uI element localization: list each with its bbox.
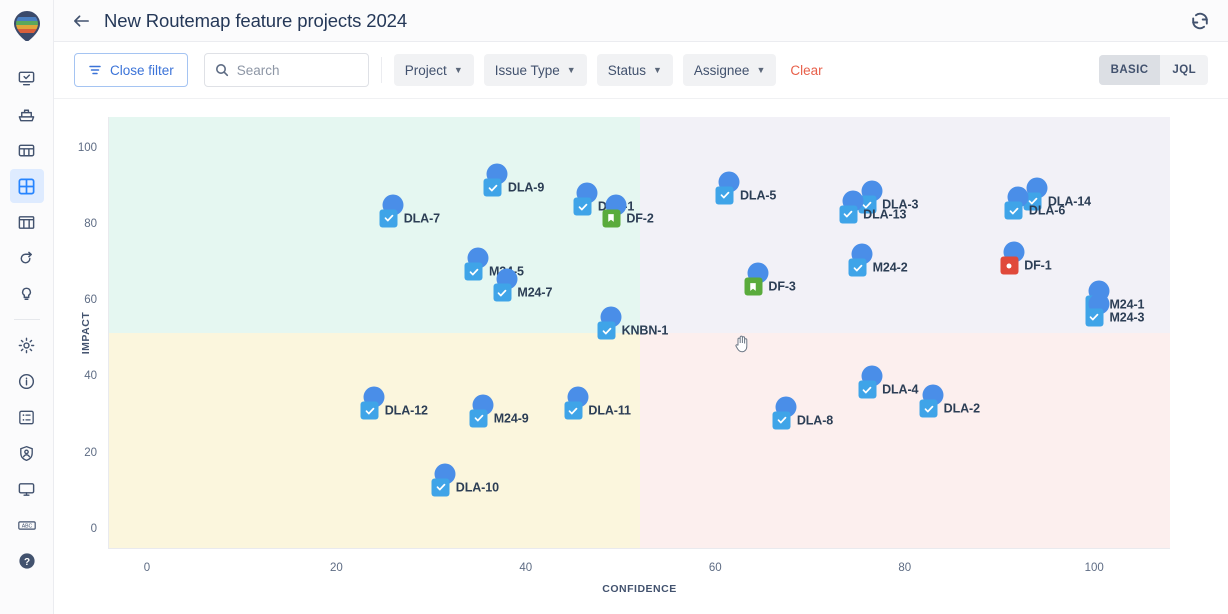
point-label: DLA-12 [385,404,428,418]
point-label: DLA-7 [404,211,440,225]
task-type-icon [920,400,938,418]
scatter-point[interactable]: DLA-11 [567,387,588,408]
point-label: DF-1 [1024,259,1051,273]
close-filter-button[interactable]: Close filter [74,53,188,87]
point-label-group[interactable]: DLA-13 [839,205,906,223]
point-label: DLA-4 [882,383,918,397]
sidebar-item-sprint-loop[interactable] [10,241,44,275]
task-type-icon [858,381,876,399]
task-type-icon [380,209,398,227]
search-box[interactable] [204,53,369,87]
filter-status-dropdown[interactable]: Status ▼ [597,54,673,86]
sync-refresh-icon[interactable] [1186,7,1214,35]
point-label-group[interactable]: M24-2 [849,259,908,277]
task-type-icon [470,409,488,427]
point-label-group[interactable]: DF-1 [1000,257,1051,275]
sidebar-item-info-circle[interactable] [10,364,44,398]
task-type-icon [564,402,582,420]
scatter-point[interactable]: DLA-2 [923,385,944,406]
y-tick-label: 0 [91,523,97,535]
y-tick-label: 100 [78,142,97,154]
filter-issue-type-dropdown[interactable]: Issue Type ▼ [484,54,587,86]
point-label-group[interactable]: DLA-8 [773,411,833,429]
point-label-group[interactable]: DLA-6 [1005,202,1065,220]
task-type-icon [361,402,379,420]
svg-text:ABC: ABC [21,523,32,529]
filter-assignee-dropdown[interactable]: Assignee ▼ [683,54,776,86]
grab-hand-cursor [734,334,751,358]
task-type-icon [598,322,616,340]
point-label: DLA-8 [797,413,833,427]
x-tick-label: 80 [898,562,911,574]
task-type-icon [716,186,734,204]
y-tick-label: 20 [84,447,97,459]
toolbar-divider [381,57,382,83]
x-tick-label: 60 [709,562,722,574]
sidebar-item-abc[interactable]: ABC [10,508,44,542]
scatter-point[interactable]: DLA-13 [842,190,863,211]
sidebar-item-lightbulb[interactable] [10,277,44,311]
bug-type-icon [1000,257,1018,275]
task-type-icon [1005,202,1023,220]
mode-jql-tab[interactable]: JQL [1160,55,1208,85]
scatter-point[interactable]: DLA-6 [1008,187,1029,208]
point-label-group[interactable]: M24-9 [470,409,529,427]
chevron-down-icon: ▼ [756,66,765,75]
chevron-down-icon: ▼ [454,66,463,75]
scatter-point[interactable]: DLA-10 [435,463,456,484]
scatter-point[interactable]: DLA-9 [487,164,508,185]
scatter-point[interactable]: DF-1 [1003,242,1024,263]
sidebar-item-display[interactable] [10,472,44,506]
point-label: M24-7 [517,286,552,300]
scatter-point[interactable]: DLA-3 [861,181,882,202]
sidebar-icon-list: ABC ? [10,60,44,579]
scatter-point[interactable]: DLA-12 [364,387,385,408]
task-type-icon [484,179,502,197]
task-type-icon [849,259,867,277]
point-label: DLA-10 [456,480,499,494]
chevron-down-icon: ▼ [567,66,576,75]
sidebar-divider [14,319,40,320]
point-label: DLA-5 [740,188,776,202]
scatter-point[interactable]: DF-2 [605,194,626,215]
sidebar-item-columns[interactable] [10,205,44,239]
point-label-group[interactable]: DLA-12 [361,402,428,420]
scatter-point[interactable]: M24-7 [496,269,517,290]
point-label: DLA-6 [1029,204,1065,218]
x-tick-label: 0 [144,562,150,574]
task-type-icon [432,478,450,496]
y-tick-label: 80 [84,218,97,230]
task-type-icon [574,198,592,216]
back-arrow-icon[interactable] [68,8,94,34]
quadrant-top-left [109,117,640,333]
point-label: M24-3 [1109,310,1144,324]
y-tick-label: 60 [84,294,97,306]
point-label-group[interactable]: M24-7 [493,284,552,302]
page-title: New Routemap feature projects 2024 [104,10,407,32]
scatter-point[interactable]: M24-9 [473,394,494,415]
point-label: KNBN-1 [622,324,669,338]
filter-icon [88,63,102,77]
mode-basic-tab[interactable]: BASIC [1099,55,1161,85]
filter-project-dropdown[interactable]: Project ▼ [394,54,474,86]
point-label-group[interactable]: DF-2 [602,209,653,227]
task-type-icon [839,205,857,223]
close-filter-label: Close filter [110,63,174,78]
story-type-icon [602,209,620,227]
story-type-icon [744,278,762,296]
sidebar-item-board-grid[interactable] [10,169,44,203]
point-label: DLA-9 [508,181,544,195]
point-label-group[interactable]: DLA-9 [484,179,544,197]
plot-area[interactable]: 020406080100 020406080100 DLA-9DLA-7DLA-… [108,117,1170,549]
filter-toolbar: Close filter Project ▼ Issue Type ▼ Stat… [54,42,1228,99]
task-type-icon [493,284,511,302]
scatter-point[interactable]: M24-5 [468,248,489,269]
point-label: DLA-13 [863,207,906,221]
scatter-point[interactable]: KNBN-1 [601,307,622,328]
point-label: DF-3 [768,280,795,294]
map-pin-logo[interactable] [9,8,45,44]
svg-text:?: ? [23,557,29,568]
point-label-group[interactable]: M24-3 [1085,308,1144,326]
scatter-point[interactable]: DLA-4 [861,366,882,387]
sidebar-item-ship[interactable] [10,97,44,131]
task-type-icon [1085,308,1103,326]
point-label-group[interactable]: KNBN-1 [598,322,669,340]
task-type-icon [773,411,791,429]
point-label: DF-2 [626,211,653,225]
sidebar-item-list-details[interactable] [10,400,44,434]
point-label-group[interactable]: DF-3 [744,278,795,296]
x-tick-label: 20 [330,562,343,574]
filter-project-label: Project [405,63,447,78]
scatter-point[interactable]: DLA-8 [776,396,797,417]
page-header: New Routemap feature projects 2024 [54,0,1228,42]
sidebar-item-gear[interactable] [10,328,44,362]
chevron-down-icon: ▼ [653,66,662,75]
sidebar-item-shield-user[interactable] [10,436,44,470]
x-tick-label: 40 [519,562,532,574]
sidebar-item-monitor-check[interactable] [10,61,44,95]
point-label: DLA-11 [588,404,630,418]
filter-issue-type-label: Issue Type [495,63,560,78]
scatter-point[interactable]: DF-3 [747,263,768,284]
point-label-group[interactable]: DLA-7 [380,209,440,227]
point-label-group[interactable]: DLA-5 [716,186,776,204]
filter-status-label: Status [608,63,646,78]
point-label-group[interactable]: DLA-2 [920,400,980,418]
quadrant-bottom-left [109,333,640,549]
scatter-point[interactable]: DLA-5 [719,171,740,192]
clear-filters-link[interactable]: Clear [790,63,822,78]
x-tick-label: 100 [1085,562,1104,574]
point-label: M24-9 [494,411,529,425]
x-axis-label: CONFIDENCE [602,583,676,595]
point-label: DLA-2 [944,402,980,416]
app-root: ABC ? New Routemap feature projects 2024 [0,0,1228,614]
point-label-group[interactable]: DLA-4 [858,381,918,399]
query-mode-toggle: BASIC JQL [1099,55,1208,85]
point-label: M24-2 [873,261,908,275]
y-tick-label: 40 [84,370,97,382]
scatter-chart: 020406080100 020406080100 DLA-9DLA-7DLA-… [54,99,1228,614]
left-sidebar: ABC ? [0,0,54,614]
sidebar-item-table-grid[interactable] [10,133,44,167]
scatter-point[interactable]: DLA-14 [1027,177,1048,198]
filter-assignee-label: Assignee [694,63,750,78]
quadrant-bottom-right [640,333,1171,549]
task-type-icon [465,263,483,281]
scatter-point[interactable]: M24-3 [1088,293,1109,314]
scatter-point[interactable]: M24-2 [852,244,873,265]
y-axis-label: IMPACT [80,311,92,353]
search-icon [215,63,229,77]
scatter-point[interactable]: DLA-1 [577,183,598,204]
point-label-group[interactable]: DLA-11 [564,402,630,420]
point-label-group[interactable]: DLA-10 [432,478,499,496]
search-input[interactable] [237,63,358,78]
scatter-point[interactable]: DLA-7 [383,194,404,215]
sidebar-item-help-circle[interactable]: ? [10,544,44,578]
